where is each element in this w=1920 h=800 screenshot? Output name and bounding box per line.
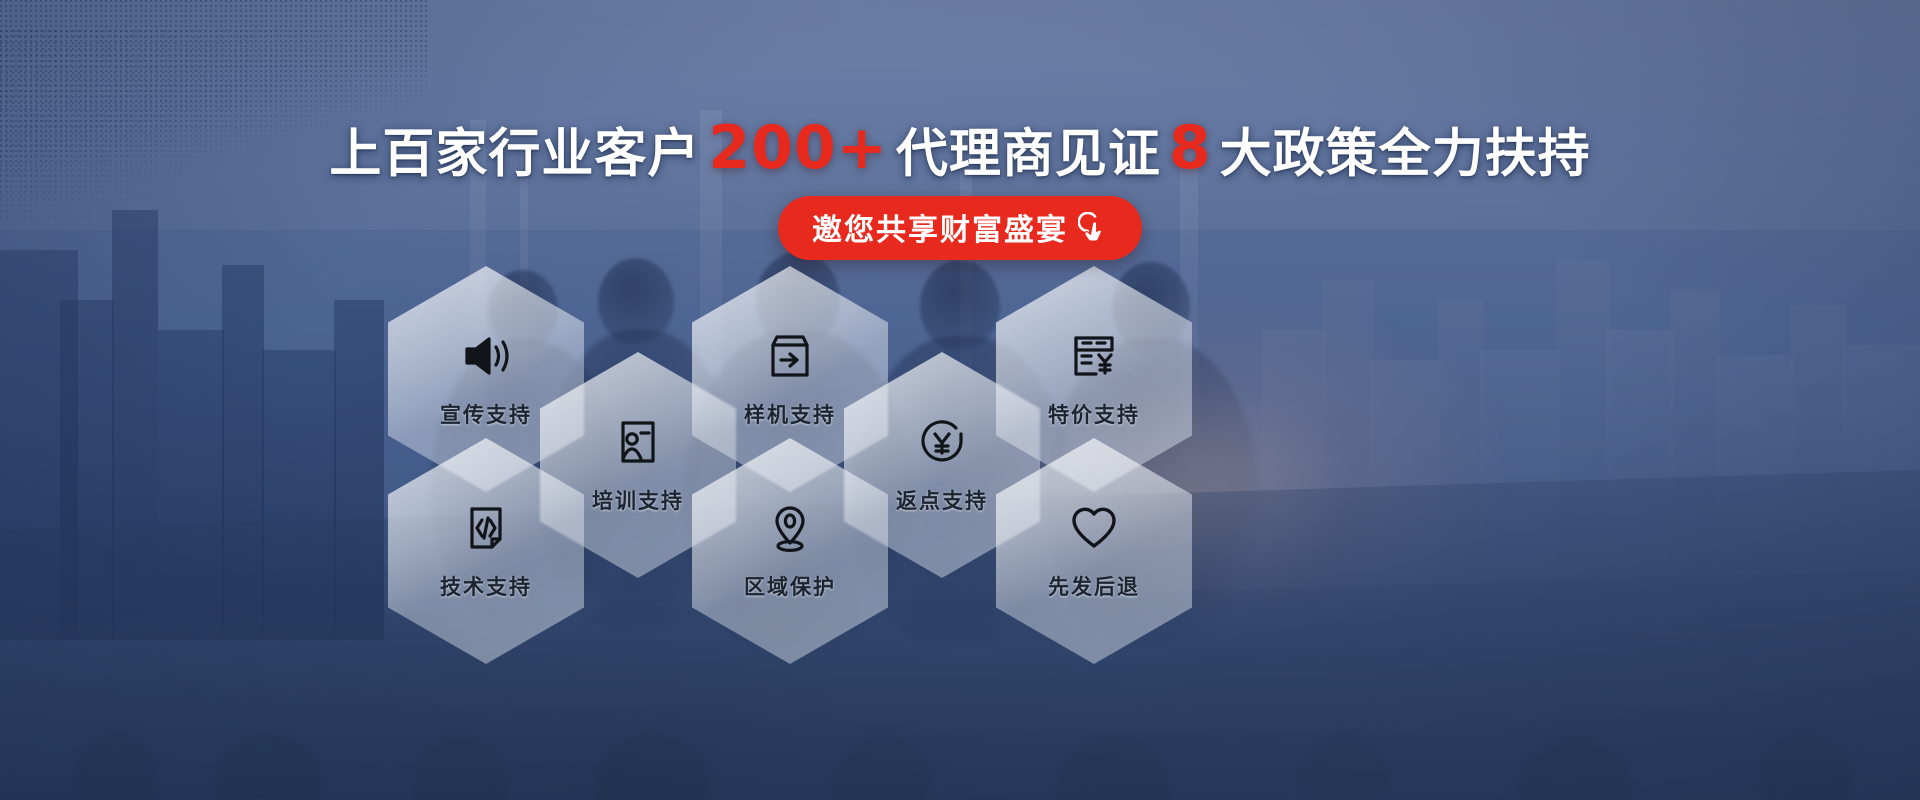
headline-part-3: 大政策全力扶持 [1220,125,1591,183]
hex-label: 培训支持 [592,485,684,515]
headline-part-1: 上百家行业客户 [329,125,700,183]
headline-stat-clients: 200+ [700,113,896,183]
page-title: 上百家行业客户200+代理商见证8大政策全力扶持 [329,118,1590,180]
hex-label: 先发后退 [1048,571,1140,601]
hex-label: 特价支持 [1048,399,1140,429]
headline-container: 上百家行业客户200+代理商见证8大政策全力扶持 [0,118,1920,180]
cta-label: 邀您共享财富盛宴 [812,205,1068,249]
id-card-icon [611,415,665,469]
promo-banner: 上百家行业客户200+代理商见证8大政策全力扶持 邀您共享财富盛宴 [0,0,1920,800]
cta-container: 邀您共享财富盛宴 [0,196,1920,260]
yen-circle-icon [915,415,969,469]
hex-label: 样机支持 [744,399,836,429]
click-cursor-icon [1078,212,1112,246]
cta-button[interactable]: 邀您共享财富盛宴 [778,196,1142,260]
code-icon [459,501,513,555]
heart-icon [1067,501,1121,555]
headline-stat-policies: 8 [1161,113,1220,183]
location-pin-icon [763,501,817,555]
hex-label: 区域保护 [744,571,836,601]
headline-part-2: 代理商见证 [896,125,1161,183]
box-arrow-in-icon [763,329,817,383]
hex-label: 返点支持 [896,485,988,515]
megaphone-icon [459,329,513,383]
hex-label: 宣传支持 [440,399,532,429]
price-tag-icon [1067,329,1121,383]
hex-label: 技术支持 [440,571,532,601]
